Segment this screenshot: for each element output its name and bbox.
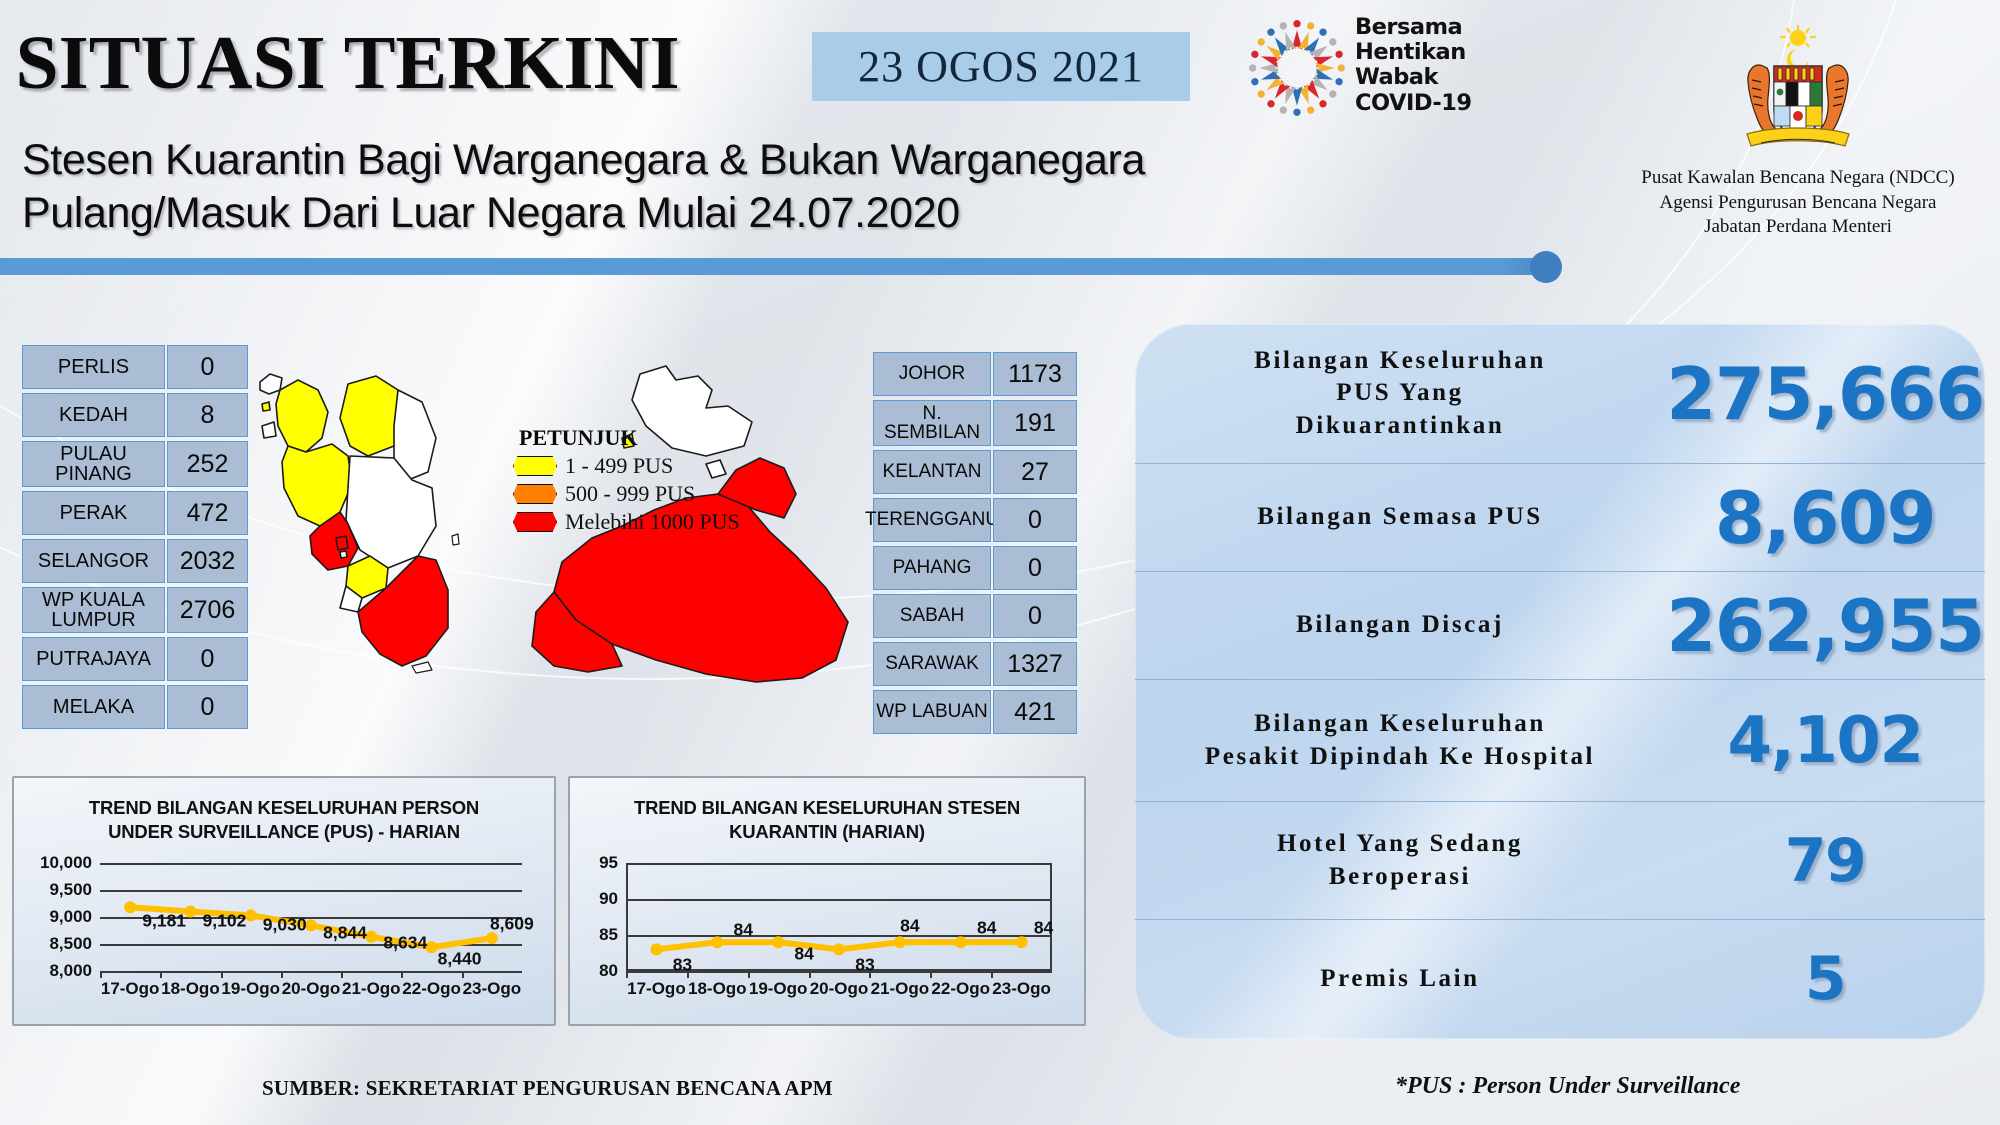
chart-data-label: 8,844 <box>323 923 367 944</box>
map-state-wp-kuala-lumpur <box>336 536 348 550</box>
state-name-selangor: SELANGOR <box>22 539 165 583</box>
chart-tick-mark <box>930 971 932 978</box>
chart2-title-line-1: TREND BILANGAN KESELURUHAN STESEN <box>570 796 1084 820</box>
chart2-title-line-2: KUARANTIN (HARIAN) <box>570 820 1084 844</box>
state-row: JOHOR1173 <box>873 352 1077 396</box>
chart-x-tick: 20-Ogo <box>282 979 341 999</box>
state-name-sarawak: SARAWAK <box>873 642 991 686</box>
state-name-putrajaya: PUTRAJAYA <box>22 637 165 681</box>
state-value-pahang: 0 <box>993 546 1077 590</box>
covid-logo-text: BersamaHentikanWabakCOVID-19 <box>1355 15 1472 116</box>
chart-x-tick: 17-Ogo <box>627 979 686 999</box>
state-name-melaka: MELAKA <box>22 685 165 729</box>
stat-label: Bilangan Discaj <box>1135 609 1665 642</box>
chart-tick-mark <box>809 971 811 978</box>
malaysia-map <box>236 360 876 760</box>
chart-tick-mark <box>401 971 403 978</box>
chart-x-tick: 18-Ogo <box>688 979 747 999</box>
state-value-johor: 1173 <box>993 352 1077 396</box>
chart-tick-mark <box>221 971 223 978</box>
crest-caption-line-2: Agensi Pengurusan Bencana Negara <box>1596 191 2000 216</box>
people-burst-icon <box>1243 14 1351 122</box>
map-island-singapore <box>412 662 432 673</box>
chart-x-tick: 17-Ogo <box>101 979 160 999</box>
chart-tick-mark <box>462 971 464 978</box>
legend-row: 1 - 499 PUS <box>513 453 743 479</box>
chart-data-point <box>1016 936 1028 948</box>
legend-label: 500 - 999 PUS <box>565 481 695 507</box>
map-state-putrajaya <box>340 551 347 558</box>
state-row: WP KUALA LUMPUR2706 <box>22 587 248 633</box>
chart-tick-mark <box>281 971 283 978</box>
chart-data-label: 9,030 <box>263 915 307 936</box>
date-badge: 23 OGOS 2021 <box>812 32 1190 101</box>
chart-tick-mark <box>991 971 993 978</box>
chart-stesen-kuarantin-title: TREND BILANGAN KESELURUHAN STESEN KUARAN… <box>570 778 1084 845</box>
chart-data-label: 8,440 <box>438 949 482 970</box>
stat-label: Bilangan KeseluruhanPUS YangDikuarantink… <box>1135 345 1665 443</box>
chart1-title-line-2: UNDER SURVEILLANCE (PUS) - HARIAN <box>14 820 554 844</box>
state-name-pahang: PAHANG <box>873 546 991 590</box>
legend-row: 500 - 999 PUS <box>513 481 743 507</box>
state-row: PERLIS0 <box>22 345 248 389</box>
chart-data-label: 84 <box>900 916 919 937</box>
chart1-plot-area: 10,0009,5009,0008,5008,00017-Ogo18-Ogo19… <box>14 855 534 1005</box>
map-state-kedah <box>276 380 328 452</box>
chart-x-axis <box>100 971 522 973</box>
header-divider <box>0 258 1545 275</box>
map-island-pulau-pinang <box>262 422 276 438</box>
chart-data-label: 8,609 <box>490 913 534 934</box>
chart-data-label: 83 <box>855 955 874 976</box>
stat-value: 4,102 <box>1665 704 1985 778</box>
stat-label: Hotel Yang SedangBeroperasi <box>1135 828 1665 893</box>
chart-data-label: 9,181 <box>142 911 186 932</box>
chart-data-point <box>772 936 784 948</box>
stat-row: Premis Lain5 <box>1135 920 1985 1038</box>
legend-title: PETUNJUK <box>519 425 743 451</box>
chart-data-point <box>124 901 136 913</box>
state-name-kelantan: KELANTAN <box>873 450 991 494</box>
chart-data-point <box>833 943 845 955</box>
chart-x-tick: 21-Ogo <box>871 979 930 999</box>
chart-tick-mark <box>100 971 102 978</box>
state-name-perak: PERAK <box>22 491 165 535</box>
stat-row: Bilangan KeseluruhanPUS YangDikuarantink… <box>1135 324 1985 464</box>
state-row: PULAU PINANG252 <box>22 441 248 487</box>
chart-data-label: 9,102 <box>203 911 247 932</box>
state-name-terengganu: TERENGGANU <box>873 498 991 542</box>
state-value-terengganu: 0 <box>993 498 1077 542</box>
chart-pus-harian: TREND BILANGAN KESELURUHAN PERSON UNDER … <box>12 776 556 1026</box>
chart-x-tick: 21-Ogo <box>342 979 401 999</box>
header-divider-dot <box>1530 251 1562 283</box>
state-name-kedah: KEDAH <box>22 393 165 437</box>
state-row: PERAK472 <box>22 491 248 535</box>
legend-label: 1 - 499 PUS <box>565 453 673 479</box>
state-table-left: PERLIS0KEDAH8PULAU PINANG252PERAK472SELA… <box>22 345 248 733</box>
jata-negara-crest-icon <box>1723 22 1873 162</box>
chart-data-point <box>955 936 967 948</box>
state-row: SELANGOR2032 <box>22 539 248 583</box>
stat-value: 275,666 <box>1665 352 1985 436</box>
stat-row: Bilangan Discaj262,955 <box>1135 572 1985 680</box>
state-row: N. SEMBILAN191 <box>873 400 1077 446</box>
footer-source: SUMBER: SEKRETARIAT PENGURUSAN BENCANA A… <box>262 1076 833 1101</box>
map-island-langkawi <box>262 402 270 411</box>
chart-data-point <box>894 936 906 948</box>
stat-label: Premis Lain <box>1135 963 1665 996</box>
footer-note: *PUS : Person Under Surveillance <box>1395 1073 1740 1100</box>
state-name-n-sembilan: N. SEMBILAN <box>873 400 991 446</box>
map-state-perlis <box>260 374 282 394</box>
page-title: SITUASI TERKINI <box>15 20 679 107</box>
state-row: PAHANG0 <box>873 546 1077 590</box>
stat-value: 262,955 <box>1665 584 1985 668</box>
chart-data-label: 84 <box>734 920 753 941</box>
header: SITUASI TERKINI 23 OGOS 2021 Stesen Kuar… <box>0 0 2000 270</box>
state-row: WP LABUAN421 <box>873 690 1077 734</box>
stat-label: Bilangan Semasa PUS <box>1135 501 1665 534</box>
chart-x-tick: 23-Ogo <box>992 979 1051 999</box>
stat-value: 79 <box>1665 826 1985 896</box>
legend-color-chip <box>513 484 557 504</box>
state-row: KELANTAN27 <box>873 450 1077 494</box>
state-row: KEDAH8 <box>22 393 248 437</box>
stat-value: 5 <box>1665 944 1985 1014</box>
legend-color-chip <box>513 456 557 476</box>
stat-row: Hotel Yang SedangBeroperasi79 <box>1135 802 1985 920</box>
subtitle-line-1: Stesen Kuarantin Bagi Warganegara & Buka… <box>22 134 1145 187</box>
state-table-right: JOHOR1173N. SEMBILAN191KELANTAN27TERENGG… <box>873 352 1077 738</box>
state-value-n-sembilan: 191 <box>993 400 1077 446</box>
legend-label: Melebihi 1000 PUS <box>565 509 740 535</box>
chart-stesen-kuarantin: TREND BILANGAN KESELURUHAN STESEN KUARAN… <box>568 776 1086 1026</box>
chart-data-label: 84 <box>794 944 813 965</box>
chart-tick-mark <box>341 971 343 978</box>
state-row: MELAKA0 <box>22 685 248 729</box>
crest-caption: Pusat Kawalan Bencana Negara (NDCC) Agen… <box>1596 166 2000 240</box>
chart-data-point <box>711 936 723 948</box>
chart-tick-mark <box>748 971 750 978</box>
chart-tick-mark <box>160 971 162 978</box>
infographic-page: SITUASI TERKINI 23 OGOS 2021 Stesen Kuar… <box>0 0 2000 1125</box>
legend-color-chip <box>513 512 557 532</box>
summary-stats-panel: Bilangan KeseluruhanPUS YangDikuarantink… <box>1135 324 1985 1039</box>
stat-label: Bilangan KeseluruhanPesakit Dipindah Ke … <box>1135 708 1665 773</box>
crest-caption-line-1: Pusat Kawalan Bencana Negara (NDCC) <box>1596 166 2000 191</box>
covid-campaign-logo: BersamaHentikanWabakCOVID-19 <box>1243 12 1473 122</box>
chart-x-tick: 22-Ogo <box>931 979 990 999</box>
state-name-wp-kuala-lumpur: WP KUALA LUMPUR <box>22 587 165 633</box>
stat-row: Bilangan Semasa PUS8,609 <box>1135 464 1985 572</box>
chart-data-label: 84 <box>977 918 996 939</box>
map-island-tioman <box>452 534 459 545</box>
page-subtitle: Stesen Kuarantin Bagi Warganegara & Buka… <box>22 134 1145 241</box>
subtitle-line-2: Pulang/Masuk Dari Luar Negara Mulai 24.0… <box>22 187 1145 240</box>
chart-x-tick: 18-Ogo <box>161 979 220 999</box>
chart2-plot-area: 9590858017-Ogo18-Ogo19-Ogo20-Ogo21-Ogo22… <box>570 855 1066 1005</box>
chart1-title-line-1: TREND BILANGAN KESELURUHAN PERSON <box>14 796 554 820</box>
chart-data-point <box>650 943 662 955</box>
chart-x-tick: 22-Ogo <box>402 979 461 999</box>
state-value-wp-labuan: 421 <box>993 690 1077 734</box>
state-row: SARAWAK1327 <box>873 642 1077 686</box>
state-row: PUTRAJAYA0 <box>22 637 248 681</box>
chart-data-label: 83 <box>673 955 692 976</box>
crest-caption-line-3: Jabatan Perdana Menteri <box>1596 215 2000 240</box>
chart-pus-harian-title: TREND BILANGAN KESELURUHAN PERSON UNDER … <box>14 778 554 845</box>
state-row: SABAH0 <box>873 594 1077 638</box>
date-badge-label: 23 OGOS 2021 <box>858 41 1144 92</box>
state-value-sarawak: 1327 <box>993 642 1077 686</box>
chart-x-tick: 23-Ogo <box>463 979 522 999</box>
chart-x-tick: 20-Ogo <box>810 979 869 999</box>
state-name-johor: JOHOR <box>873 352 991 396</box>
chart-data-label: 8,634 <box>383 932 427 953</box>
chart-data-label: 84 <box>1034 918 1053 939</box>
state-name-pulau-pinang: PULAU PINANG <box>22 441 165 487</box>
stat-row: Bilangan KeseluruhanPesakit Dipindah Ke … <box>1135 680 1985 802</box>
legend-row: Melebihi 1000 PUS <box>513 509 743 535</box>
state-value-kelantan: 27 <box>993 450 1077 494</box>
coat-of-arms-block: Pusat Kawalan Bencana Negara (NDCC) Agen… <box>1596 22 2000 242</box>
stat-value: 8,609 <box>1665 476 1985 560</box>
legend-items: 1 - 499 PUS500 - 999 PUSMelebihi 1000 PU… <box>513 453 743 535</box>
chart-x-tick: 19-Ogo <box>749 979 808 999</box>
state-name-wp-labuan: WP LABUAN <box>873 690 991 734</box>
state-name-sabah: SABAH <box>873 594 991 638</box>
chart-x-tick: 19-Ogo <box>221 979 280 999</box>
state-name-perlis: PERLIS <box>22 345 165 389</box>
map-legend: PETUNJUK 1 - 499 PUS500 - 999 PUSMelebih… <box>513 425 743 535</box>
chart-tick-mark <box>626 971 628 978</box>
state-row: TERENGGANU0 <box>873 498 1077 542</box>
state-value-sabah: 0 <box>993 594 1077 638</box>
